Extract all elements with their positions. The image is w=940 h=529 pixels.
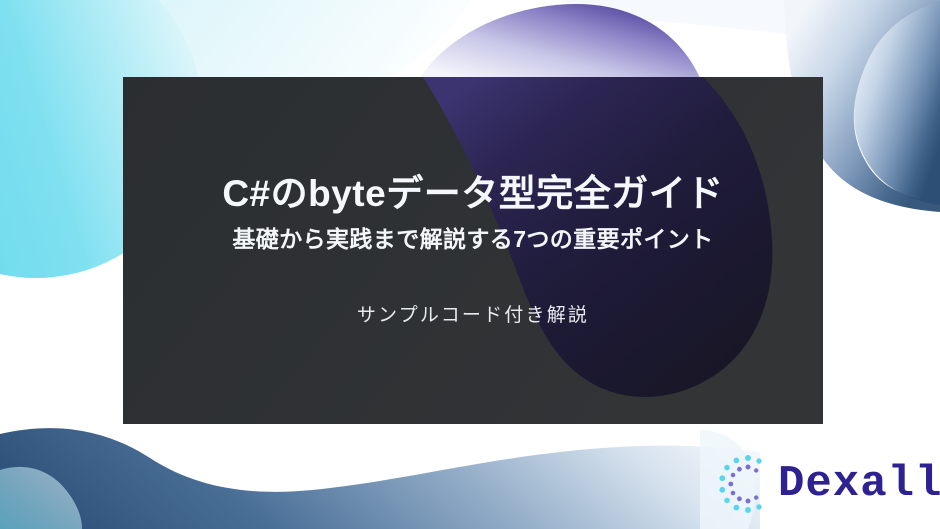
brand-logo: Dexall [716, 448, 940, 520]
brand-name: Dexall [778, 462, 940, 506]
hero-text-block: C#のbyteデータ型完全ガイド 基礎から実践まで解説する7つの重要ポイント サ… [123, 77, 823, 424]
dot-ring-icon [716, 452, 780, 516]
page-subtitle: 基礎から実践まで解説する7つの重要ポイント [232, 226, 713, 254]
slide-canvas: C#のbyteデータ型完全ガイド 基礎から実践まで解説する7つの重要ポイント サ… [0, 0, 940, 529]
bg-shape-blue-wave-bottom [0, 428, 760, 529]
hero-card: C#のbyteデータ型完全ガイド 基礎から実践まで解説する7つの重要ポイント サ… [123, 77, 823, 424]
page-title: C#のbyteデータ型完全ガイド [222, 173, 723, 216]
page-tagline: サンプルコード付き解説 [357, 300, 589, 327]
